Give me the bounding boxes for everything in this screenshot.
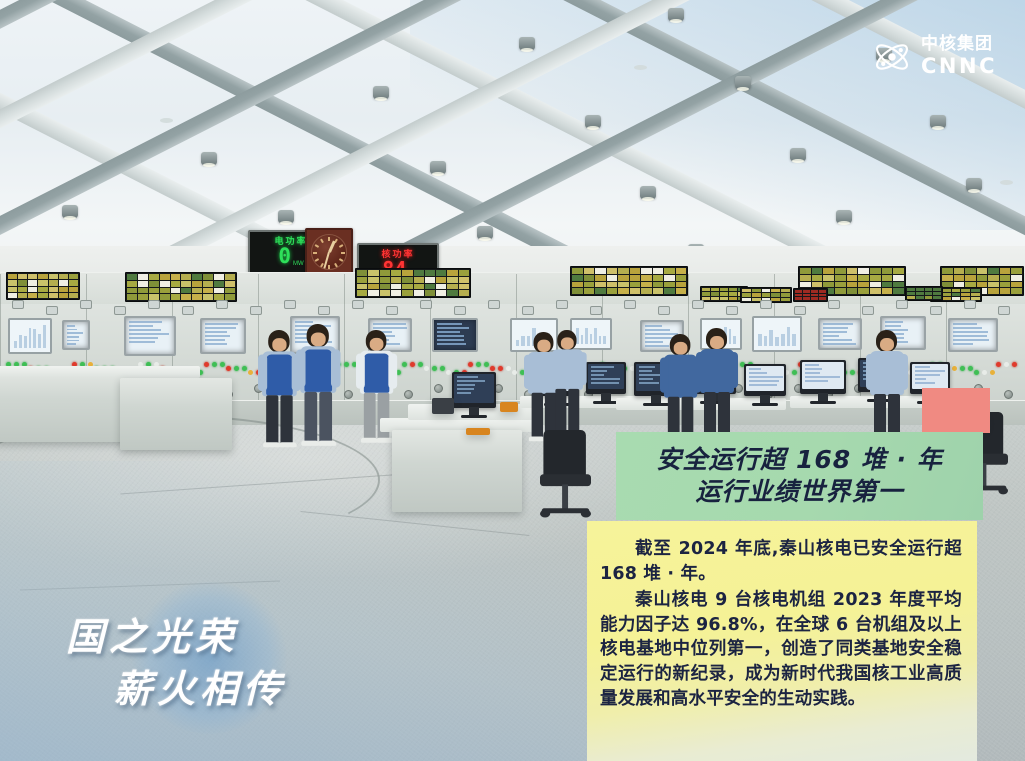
annunciator-tile	[653, 275, 664, 281]
monitor-base	[810, 401, 836, 404]
panel-gauge	[590, 306, 602, 315]
indicator-lamp[interactable]	[220, 362, 225, 367]
annunciator-tile	[711, 297, 719, 300]
annunciator-tile	[69, 274, 78, 279]
indicator-lamp[interactable]	[512, 370, 517, 375]
monitor-stand	[760, 395, 770, 403]
chair-post	[562, 484, 568, 510]
annunciator-tile	[618, 282, 629, 288]
panel-gauge	[862, 306, 874, 315]
annunciator-tile	[988, 268, 999, 274]
annunciator-tile	[368, 277, 378, 283]
ceiling-downlight	[735, 76, 751, 89]
annunciator-tile	[214, 281, 224, 287]
indicator-lamp[interactable]	[234, 366, 239, 371]
annunciator-tile	[847, 282, 858, 288]
body-text-panel: 截至 2024 年底,秦山核电已安全运行超 168 堆 · 年。 秦山核电 9 …	[587, 521, 977, 761]
annunciator-tile	[607, 288, 618, 294]
chair-caster	[581, 510, 591, 518]
annunciator-tile	[49, 280, 58, 285]
annunciator-tile	[819, 294, 826, 297]
indicator-lamp[interactable]	[212, 362, 217, 367]
clock-tick	[313, 252, 317, 254]
annunciator-tile	[916, 288, 924, 291]
annunciator-tile	[961, 293, 970, 296]
bar-graph-bar	[516, 340, 519, 346]
annunciator-tile	[925, 288, 933, 291]
annunciator-tile	[752, 293, 761, 296]
annunciator-tile	[59, 293, 68, 298]
person-arm	[866, 354, 875, 390]
annunciator-tile	[847, 288, 858, 294]
annunciator-tile	[630, 282, 641, 288]
annunciator-tile	[18, 280, 27, 285]
person-legs	[378, 393, 390, 440]
calligraphy-line-1: 国之光荣	[66, 606, 238, 661]
panel-gauge	[352, 300, 364, 309]
annunciator-tile	[933, 292, 941, 295]
ceiling-downlight	[966, 178, 982, 191]
monitor-screen[interactable]	[454, 374, 494, 403]
annunciator-tile	[160, 288, 170, 294]
annunciator-tile	[214, 288, 224, 294]
center-desk-equipment	[432, 398, 454, 414]
console-bar-screen	[570, 318, 612, 350]
annunciator-tile	[858, 275, 869, 281]
console-screen	[432, 318, 478, 352]
ceiling-downlight	[790, 148, 806, 161]
annunciator-tile	[835, 282, 846, 288]
annunciator-tile	[795, 294, 802, 297]
annunciator-tile	[149, 281, 159, 287]
panel-gauge	[556, 300, 568, 309]
annunciator-tile	[8, 293, 17, 298]
person-arm	[729, 352, 738, 388]
wall-clock	[305, 228, 353, 276]
annunciator-tile	[803, 294, 810, 297]
annunciator-tile	[436, 270, 446, 276]
indicator-lamp[interactable]	[960, 366, 965, 371]
annunciator-tile	[893, 282, 904, 288]
annunciator-tile	[214, 274, 224, 280]
indicator-lamp-row	[952, 366, 973, 371]
annunciator-tile	[171, 294, 181, 300]
electric-power-unit: MW	[293, 261, 304, 267]
indicator-lamp[interactable]	[990, 370, 995, 375]
annunciator-tile	[38, 274, 47, 279]
person-legs	[568, 389, 579, 433]
annunciator-tile	[702, 292, 710, 295]
person-vest	[364, 354, 389, 393]
annunciator-tile	[160, 281, 170, 287]
indicator-lamp[interactable]	[446, 370, 451, 375]
body-paragraph-2: 秦山核电 9 台核电机组 2023 年度平均能力因子达 96.8%，在全球 6 …	[600, 588, 962, 712]
panel-gauge	[896, 300, 908, 309]
indicator-lamp[interactable]	[792, 370, 797, 375]
annunciator-tile	[720, 292, 728, 295]
indicator-lamp[interactable]	[952, 366, 957, 371]
panel-gauge	[80, 300, 92, 309]
annunciator-tile	[1011, 282, 1022, 288]
headline-banner: 安全运行超 168 堆 · 年 运行业绩世界第一	[616, 432, 983, 520]
annunciator-tile	[977, 275, 988, 281]
indicator-lamp[interactable]	[204, 362, 209, 367]
screen-content-lines	[67, 325, 85, 345]
panel-gauge	[828, 300, 840, 309]
indicator-lamp[interactable]	[344, 362, 349, 367]
annunciator-tile	[357, 284, 367, 290]
indicator-lamp[interactable]	[974, 370, 979, 375]
indicator-lamp[interactable]	[424, 366, 429, 371]
annunciator-tile	[368, 270, 378, 276]
annunciator-tile	[414, 270, 424, 276]
annunciator-tile	[971, 293, 980, 296]
indicator-lamp[interactable]	[468, 362, 473, 367]
indicator-lamp[interactable]	[484, 362, 489, 367]
annunciator-tile	[59, 274, 68, 279]
annunciator-tile	[762, 293, 771, 296]
panel-gauge	[930, 306, 942, 315]
person-legs	[304, 392, 317, 443]
annunciator-tile	[127, 274, 137, 280]
indicator-lamp[interactable]	[410, 362, 415, 367]
person-legs	[532, 393, 543, 439]
annunciator-tile	[203, 274, 213, 280]
annunciator-tile	[181, 288, 191, 294]
clock-face	[311, 234, 347, 270]
annunciator-tile	[641, 275, 652, 281]
annunciator-tile	[357, 277, 367, 283]
bar-graph-bar	[33, 329, 36, 348]
clock-tick	[341, 252, 345, 254]
annunciator-tile	[127, 294, 137, 300]
annunciator-tile	[771, 289, 780, 292]
annunciator-tile	[925, 292, 933, 295]
panel-knob	[404, 390, 413, 399]
bar-graph-bar	[787, 327, 791, 346]
monitor-screen[interactable]	[588, 364, 624, 389]
annunciator-tile	[819, 290, 826, 293]
logo-english-name: CNNC	[921, 56, 997, 77]
annunciator-tile	[171, 281, 181, 287]
annunciator-tile	[127, 281, 137, 287]
annunciator-tile	[988, 282, 999, 288]
annunciator-tile	[127, 288, 137, 294]
annunciator-tile	[676, 275, 687, 281]
annunciator-tile	[907, 296, 915, 299]
annunciator-tile	[447, 277, 457, 283]
annunciator-tile	[795, 290, 802, 293]
bar-graph-bar	[594, 328, 597, 344]
annunciator-tile	[933, 296, 941, 299]
annunciator-tile	[138, 294, 148, 300]
annunciator-tile	[977, 268, 988, 274]
annunciator-tile	[858, 288, 869, 294]
annunciator-tile	[800, 268, 811, 274]
annunciator-tile	[584, 268, 595, 274]
annunciator-tile	[942, 293, 951, 296]
screen-content-lines	[129, 321, 171, 351]
annunciator-tile	[38, 287, 47, 292]
indicator-lamp[interactable]	[432, 366, 437, 371]
person-arm	[331, 349, 341, 387]
chair-backrest	[543, 430, 586, 478]
annunciator-tile	[28, 287, 37, 292]
annunciator-tile	[425, 290, 435, 296]
annunciator-tile	[391, 284, 401, 290]
annunciator-tile	[572, 282, 583, 288]
annunciator-tile	[380, 277, 390, 283]
bar-graph-bar	[521, 336, 524, 346]
annunciator-tile	[811, 294, 818, 297]
indicator-lamp-row	[204, 362, 225, 367]
annunciator-tile	[447, 290, 457, 296]
annunciator-tile	[607, 268, 618, 274]
screen-content-lines	[205, 323, 241, 349]
ceiling-downlight	[201, 152, 217, 165]
annunciator-tile	[38, 293, 47, 298]
annunciator-tile	[847, 275, 858, 281]
annunciator-tile	[847, 268, 858, 274]
annunciator-tile	[942, 268, 953, 274]
annunciator-tile	[1011, 275, 1022, 281]
annunciator-tile	[49, 287, 58, 292]
panel-gauge	[216, 300, 228, 309]
person-face	[311, 332, 326, 346]
annunciator-tile	[641, 268, 652, 274]
panel-gauge	[658, 306, 670, 315]
indicator-lamp[interactable]	[996, 362, 1001, 367]
annunciator-tile	[988, 288, 999, 294]
annunciator-tile	[729, 288, 737, 291]
annunciator-tile	[781, 293, 790, 296]
workstation-monitor-5[interactable]	[744, 364, 786, 396]
person-arm	[696, 352, 705, 388]
smoke-detector	[634, 65, 647, 70]
annunciator-tile	[858, 268, 869, 274]
annunciator-tile	[28, 274, 37, 279]
annunciator-tile	[942, 275, 953, 281]
annunciator-tile	[171, 288, 181, 294]
annunciator-tile	[823, 275, 834, 281]
annunciator-tile	[192, 294, 202, 300]
person-shoe	[279, 442, 296, 447]
annunciator-tile	[425, 277, 435, 283]
workstation-monitor-6[interactable]	[800, 360, 846, 394]
panel-gauge	[46, 306, 58, 315]
annunciator-panel	[793, 288, 828, 302]
annunciator-tile	[971, 289, 980, 292]
indicator-lamp[interactable]	[242, 366, 247, 371]
annunciator-tile	[391, 290, 401, 296]
annunciator-tile	[925, 296, 933, 299]
logo-chinese-name: 中核集团	[921, 36, 997, 53]
clock-tick	[315, 244, 319, 248]
electric-power-value: 0	[278, 246, 291, 267]
monitor-screen[interactable]	[912, 364, 948, 389]
annunciator-tile	[823, 282, 834, 288]
annunciator-tile	[49, 293, 58, 298]
annunciator-tile	[942, 297, 951, 300]
indicator-lamp[interactable]	[982, 370, 987, 375]
indicator-lamp[interactable]	[418, 362, 423, 367]
annunciator-tile	[225, 274, 235, 280]
annunciator-tile	[952, 289, 961, 292]
monitor-stand	[601, 393, 611, 401]
annunciator-tile	[618, 288, 629, 294]
panel-gauge	[12, 300, 24, 309]
person-face	[272, 338, 286, 351]
indicator-lamp[interactable]	[248, 370, 253, 375]
annunciator-tile	[762, 289, 771, 292]
indicator-lamp[interactable]	[490, 366, 495, 371]
ceiling-downlight	[640, 186, 656, 199]
panel-gauge	[726, 306, 738, 315]
person-legs	[364, 393, 376, 440]
person-arm	[356, 354, 365, 389]
annunciator-tile	[69, 287, 78, 292]
indicator-lamp[interactable]	[226, 366, 231, 371]
panel-knob	[344, 390, 353, 399]
annunciator-tile	[425, 284, 435, 290]
annunciator-tile	[870, 268, 881, 274]
ceiling-downlight	[62, 205, 78, 218]
annunciator-tile	[607, 275, 618, 281]
person-face	[710, 336, 724, 349]
annunciator-tile	[1000, 282, 1011, 288]
annunciator-tile	[380, 270, 390, 276]
annunciator-tile	[916, 296, 924, 299]
annunciator-tile	[819, 297, 826, 300]
annunciator-tile	[653, 268, 664, 274]
annunciator-tile	[8, 274, 17, 279]
annunciator-tile	[664, 268, 675, 274]
clock-tick	[315, 258, 319, 262]
annunciator-tile	[729, 297, 737, 300]
annunciator-panel	[125, 272, 237, 302]
annunciator-tile	[942, 289, 951, 292]
indicator-lamp[interactable]	[1004, 362, 1009, 367]
annunciator-tile	[811, 290, 818, 293]
ceiling-downlight	[585, 115, 601, 128]
annunciator-tile	[916, 292, 924, 295]
annunciator-tile	[595, 288, 606, 294]
center-desk-monitor[interactable]	[452, 372, 496, 408]
indicator-lamp[interactable]	[1012, 362, 1017, 367]
annunciator-tile	[893, 288, 904, 294]
indicator-lamp[interactable]	[440, 366, 445, 371]
monitor-base	[461, 415, 487, 418]
annunciator-tile	[742, 293, 751, 296]
annunciator-tile	[607, 282, 618, 288]
clock-tick	[339, 244, 343, 248]
annunciator-tile	[742, 298, 751, 301]
annunciator-tile	[893, 268, 904, 274]
annunciator-tile	[459, 277, 469, 283]
person-legs	[280, 395, 292, 444]
indicator-lamp-row	[402, 362, 423, 367]
indicator-lamp-row	[468, 362, 489, 367]
annunciator-tile	[882, 288, 893, 294]
annunciator-tile	[402, 277, 412, 283]
person-arm	[388, 354, 397, 389]
indicator-lamp[interactable]	[850, 370, 855, 375]
annunciator-tile	[823, 268, 834, 274]
annunciator-tile	[181, 281, 191, 287]
bar-graph-bar	[581, 335, 584, 344]
annunciator-tile	[357, 270, 367, 276]
annunciator-tile	[192, 281, 202, 287]
annunciator-tile	[803, 297, 810, 300]
person-face	[674, 342, 688, 355]
clock-tick	[339, 258, 343, 262]
person-face	[370, 338, 384, 351]
annunciator-tile	[459, 270, 469, 276]
indicator-lamp[interactable]	[968, 366, 973, 371]
screen-content-lines	[823, 323, 857, 345]
annunciator-tile	[402, 284, 412, 290]
calligraphy-line-2: 薪火相传	[114, 658, 286, 713]
annunciator-tile	[676, 268, 687, 274]
cnnc-logo: 中核集团 CNNC	[872, 36, 997, 77]
monitor-screen[interactable]	[802, 362, 844, 389]
monitor-screen[interactable]	[746, 366, 784, 391]
indicator-lamp[interactable]	[498, 366, 503, 371]
annunciator-tile	[595, 282, 606, 288]
indicator-lamp[interactable]	[506, 366, 511, 371]
person-shoe	[318, 441, 336, 446]
monitor-base	[643, 403, 669, 406]
annunciator-tile	[1011, 288, 1022, 294]
annunciator-tile	[436, 284, 446, 290]
annunciator-tile	[59, 280, 68, 285]
center-desk	[392, 430, 522, 512]
annunciator-tile	[676, 288, 687, 294]
annunciator-tile	[380, 290, 390, 296]
person-vest	[266, 354, 293, 395]
workstation-monitor-2[interactable]	[586, 362, 626, 394]
annunciator-panel	[905, 286, 943, 301]
annunciator-tile	[149, 288, 159, 294]
bar-graph-bar	[14, 341, 17, 348]
person-legs	[266, 395, 278, 444]
console-bar-screen	[752, 316, 802, 352]
bar-graph-bar	[43, 325, 46, 348]
annunciator-panel	[6, 272, 80, 300]
ceiling-downlight	[836, 210, 852, 223]
desk-orange-item	[500, 402, 518, 412]
annunciator-tile	[907, 288, 915, 291]
annunciator-tile	[584, 275, 595, 281]
annunciator-tile	[752, 289, 761, 292]
annunciator-tile	[988, 275, 999, 281]
annunciator-tile	[882, 268, 893, 274]
indicator-lamp[interactable]	[402, 362, 407, 367]
annunciator-tile	[1000, 268, 1011, 274]
panel-gauge	[386, 306, 398, 315]
annunciator-tile	[961, 289, 970, 292]
annunciator-tile	[18, 287, 27, 292]
annunciator-tile	[171, 274, 181, 280]
panel-gauge	[522, 306, 534, 315]
annunciator-tile	[630, 275, 641, 281]
console-bar-screen	[8, 318, 52, 354]
annunciator-tile	[729, 292, 737, 295]
annunciator-tile	[138, 281, 148, 287]
annunciator-tile	[28, 293, 37, 298]
indicator-lamp[interactable]	[476, 362, 481, 367]
annunciator-tile	[59, 287, 68, 292]
